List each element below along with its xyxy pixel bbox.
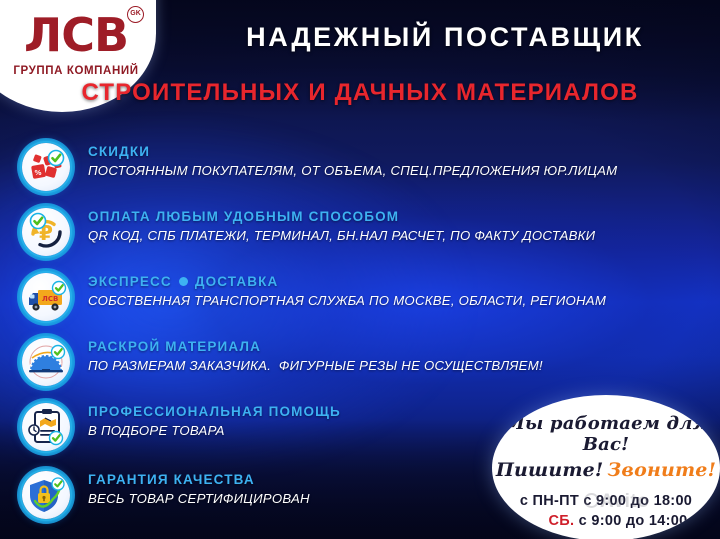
headline-sub: СТРОИТЕЛЬНЫХ И ДАЧНЫХ МАТЕРИАЛОВ [8, 79, 712, 107]
working-hours: с ПН-ПТ с 9:00 до 18:00 СБ. с 9:00 до 14… [492, 491, 720, 531]
icon-disc [22, 403, 70, 451]
feature-title-part-2: ДОСТАВКА [195, 274, 279, 289]
icon-disc: ЛСВ [22, 273, 70, 321]
contact-call-label: Звоните! [607, 459, 716, 481]
feature-description: QR КОД, СПБ ПЛАТЕЖИ, ТЕРМИНАЛ, БН.НАЛ РА… [88, 228, 720, 243]
bullet-dot-icon [179, 277, 188, 286]
feature-item-delivery: ЛСВ ЭКСПРЕССДОСТАВКА СОБСТВЕННАЯ ТРАНСПО… [0, 264, 720, 329]
contact-write-label: Пишите! [496, 459, 604, 481]
hours-weekday: с ПН-ПТ с 9:00 до 18:00 [492, 491, 720, 511]
clipboard-handshake-icon [17, 398, 75, 456]
ruble-payment-icon: ₽ [17, 203, 75, 261]
headline-main: НАДЕЖНЫЙ ПОСТАВЩИК [180, 22, 710, 53]
hours-saturday-label: СБ. [549, 513, 575, 529]
svg-text:%: % [35, 169, 42, 177]
contact-slogan: Мы работаем для Вас! [492, 413, 720, 455]
logo-subtitle: ГРУППА КОМПАНИЙ [10, 65, 142, 77]
registered-mark-icon: GK [127, 6, 144, 23]
icon-disc [22, 338, 70, 386]
promo-banner: ЛСВ GK ГРУППА КОМПАНИЙ НАДЕЖНЫЙ ПОСТАВЩИ… [0, 0, 720, 539]
feature-item-discounts: % СКИДКИ ПОСТОЯННЫМ ПОКУПАТЕЛЯМ, ОТ ОБЪЕ… [0, 134, 720, 199]
delivery-truck-icon: ЛСВ [17, 268, 75, 326]
logo: ЛСВ GK ГРУППА КОМПАНИЙ [10, 10, 142, 77]
shield-lock-icon [17, 466, 75, 524]
hours-saturday-time: с 9:00 до 14:00 [579, 513, 688, 529]
feature-title: ОПЛАТА ЛЮБЫМ УДОБНЫМ СПОСОБОМ [88, 199, 720, 224]
feature-title: ЭКСПРЕССДОСТАВКА [88, 264, 720, 289]
feature-title: СКИДКИ [88, 134, 720, 159]
contact-badge: Мы работаем для Вас! Пишите!Звоните! с П… [492, 395, 720, 539]
feature-description: СОБСТВЕННАЯ ТРАНСПОРТНАЯ СЛУЖБА ПО МОСКВ… [88, 293, 720, 308]
icon-disc [22, 471, 70, 519]
contact-cta: Пишите!Звоните! [492, 459, 720, 481]
logo-mark: ЛСВ GK [10, 10, 142, 64]
contact-content: Мы работаем для Вас! Пишите!Звоните! с П… [492, 413, 720, 531]
icon-disc: ₽ [22, 208, 70, 256]
saw-blade-icon [17, 333, 75, 391]
discount-cubes-icon: % [17, 138, 75, 196]
feature-description: ПОСТОЯННЫМ ПОКУПАТЕЛЯМ, ОТ ОБЪЕМА, СПЕЦ.… [88, 163, 720, 178]
feature-description: ПО РАЗМЕРАМ ЗАКАЗЧИКА. ФИГУРНЫЕ РЕЗЫ НЕ … [88, 358, 720, 373]
feature-item-cutting: РАСКРОЙ МАТЕРИАЛА ПО РАЗМЕРАМ ЗАКАЗЧИКА.… [0, 329, 720, 394]
feature-title: РАСКРОЙ МАТЕРИАЛА [88, 329, 720, 354]
svg-text:ЛСВ: ЛСВ [42, 295, 58, 303]
feature-item-payment: ₽ ОПЛАТА ЛЮБЫМ УДОБНЫМ СПОСОБОМ QR КОД, … [0, 199, 720, 264]
icon-disc: % [22, 143, 70, 191]
logo-wordmark: ЛСВ [24, 8, 128, 62]
hours-saturday: СБ. с 9:00 до 14:00 [492, 511, 720, 531]
feature-title-part-1: ЭКСПРЕСС [88, 274, 172, 289]
